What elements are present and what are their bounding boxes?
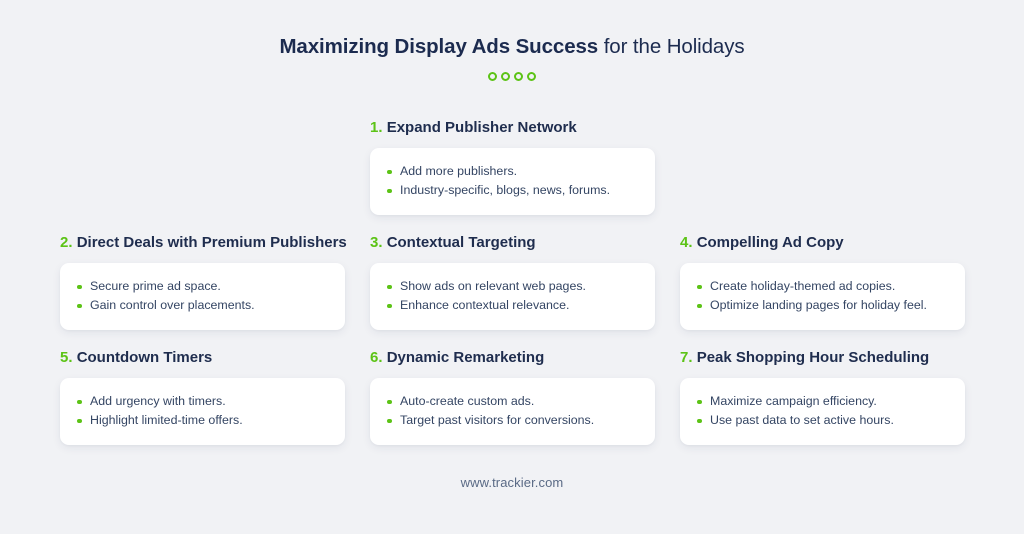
list-item: Industry-specific, blogs, news, forums. xyxy=(386,181,639,200)
section-heading: 7. Peak Shopping Hour Scheduling xyxy=(680,348,965,367)
section-card: Add more publishers. Industry-specific, … xyxy=(370,148,655,215)
section-heading: 6. Dynamic Remarketing xyxy=(370,348,655,367)
section-number: 3. xyxy=(370,234,383,251)
section-item-5: 5. Countdown Timers Add urgency with tim… xyxy=(60,348,345,445)
section-heading: 1. Expand Publisher Network xyxy=(370,118,655,137)
decorative-dots xyxy=(0,72,1024,81)
section-title: Peak Shopping Hour Scheduling xyxy=(697,349,930,366)
bullet-list: Auto-create custom ads. Target past visi… xyxy=(386,392,639,430)
section-title: Contextual Targeting xyxy=(387,234,536,251)
poster-footer: www.trackier.com xyxy=(0,474,1024,492)
poster-header: Maximizing Display Ads Success for the H… xyxy=(0,0,1024,81)
bullet-list: Add more publishers. Industry-specific, … xyxy=(386,162,639,200)
list-item: Highlight limited-time offers. xyxy=(76,411,329,430)
list-item: Add more publishers. xyxy=(386,162,639,181)
section-item-7: 7. Peak Shopping Hour Scheduling Maximiz… xyxy=(680,348,965,445)
bullet-list: Add urgency with timers. Highlight limit… xyxy=(76,392,329,430)
page-title-bold: Maximizing Display Ads Success xyxy=(279,35,598,58)
list-item: Enhance contextual relevance. xyxy=(386,296,639,315)
section-item-2: 2. Direct Deals with Premium Publishers … xyxy=(60,233,345,330)
bullet-list: Maximize campaign efficiency. Use past d… xyxy=(696,392,949,430)
section-number: 5. xyxy=(60,349,73,366)
section-heading: 4. Compelling Ad Copy xyxy=(680,233,965,252)
list-item: Secure prime ad space. xyxy=(76,277,329,296)
section-card: Secure prime ad space. Gain control over… xyxy=(60,263,345,330)
section-heading: 3. Contextual Targeting xyxy=(370,233,655,252)
section-title: Dynamic Remarketing xyxy=(387,349,545,366)
list-item: Maximize campaign efficiency. xyxy=(696,392,949,411)
list-item: Gain control over placements. xyxy=(76,296,329,315)
list-item: Auto-create custom ads. xyxy=(386,392,639,411)
section-title: Direct Deals with Premium Publishers xyxy=(77,234,347,251)
bullet-list: Create holiday-themed ad copies. Optimiz… xyxy=(696,277,949,315)
section-card: Show ads on relevant web pages. Enhance … xyxy=(370,263,655,330)
list-item: Show ads on relevant web pages. xyxy=(386,277,639,296)
section-item-1: 1. Expand Publisher Network Add more pub… xyxy=(370,118,655,215)
sections-grid: 1. Expand Publisher Network Add more pub… xyxy=(60,118,965,463)
sections-row-3: 5. Countdown Timers Add urgency with tim… xyxy=(60,348,965,445)
website-url[interactable]: www.trackier.com xyxy=(461,475,564,490)
sections-row-1: 1. Expand Publisher Network Add more pub… xyxy=(60,118,965,215)
section-number: 6. xyxy=(370,349,383,366)
section-heading: 5. Countdown Timers xyxy=(60,348,345,367)
list-item: Create holiday-themed ad copies. xyxy=(696,277,949,296)
section-card: Maximize campaign efficiency. Use past d… xyxy=(680,378,965,445)
circle-outline-icon xyxy=(488,72,497,81)
section-item-4: 4. Compelling Ad Copy Create holiday-the… xyxy=(680,233,965,330)
circle-outline-icon xyxy=(514,72,523,81)
bullet-list: Show ads on relevant web pages. Enhance … xyxy=(386,277,639,315)
infographic-poster: Maximizing Display Ads Success for the H… xyxy=(0,0,1024,534)
list-item: Add urgency with timers. xyxy=(76,392,329,411)
section-card: Auto-create custom ads. Target past visi… xyxy=(370,378,655,445)
section-card: Create holiday-themed ad copies. Optimiz… xyxy=(680,263,965,330)
page-title: Maximizing Display Ads Success for the H… xyxy=(0,34,1024,60)
list-item: Use past data to set active hours. xyxy=(696,411,949,430)
page-title-regular: for the Holidays xyxy=(598,35,744,58)
list-item: Optimize landing pages for holiday feel. xyxy=(696,296,949,315)
section-card: Add urgency with timers. Highlight limit… xyxy=(60,378,345,445)
section-number: 7. xyxy=(680,349,693,366)
section-heading: 2. Direct Deals with Premium Publishers xyxy=(60,233,345,252)
sections-row-2: 2. Direct Deals with Premium Publishers … xyxy=(60,233,965,330)
circle-outline-icon xyxy=(527,72,536,81)
section-number: 2. xyxy=(60,234,73,251)
bullet-list: Secure prime ad space. Gain control over… xyxy=(76,277,329,315)
section-title: Countdown Timers xyxy=(77,349,213,366)
section-title: Expand Publisher Network xyxy=(387,119,577,136)
section-number: 1. xyxy=(370,119,383,136)
section-number: 4. xyxy=(680,234,693,251)
section-title: Compelling Ad Copy xyxy=(697,234,844,251)
section-item-3: 3. Contextual Targeting Show ads on rele… xyxy=(370,233,655,330)
list-item: Target past visitors for conversions. xyxy=(386,411,639,430)
circle-outline-icon xyxy=(501,72,510,81)
section-item-6: 6. Dynamic Remarketing Auto-create custo… xyxy=(370,348,655,445)
